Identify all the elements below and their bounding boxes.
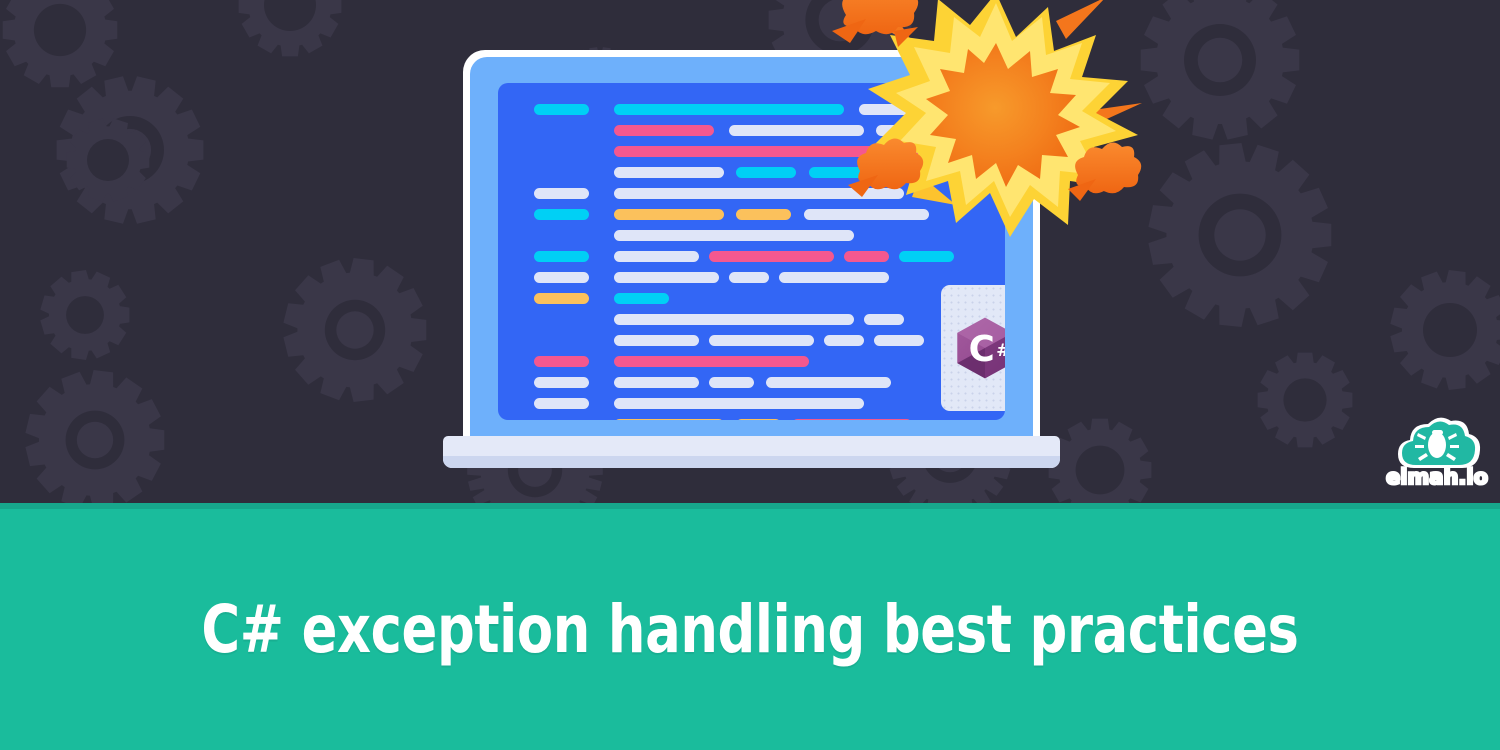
code-line-segment [534,272,589,283]
explosion-burst-icon [820,0,1160,245]
gear-icon [25,370,164,504]
csharp-logo-icon: C # [941,285,1005,411]
code-line-segment [534,398,589,409]
code-line-segment [709,335,814,346]
code-line-segment [534,209,589,220]
code-line-segment [824,335,864,346]
code-line-segment [614,398,864,409]
code-line-segment [614,167,724,178]
code-line-segment [614,125,714,136]
gear-icon [1258,353,1353,448]
code-line-segment [614,230,854,241]
laptop-base-edge [443,456,1060,468]
code-line-segment [614,209,724,220]
csharp-letter: C [969,329,995,370]
gear-icon [239,0,342,56]
code-line-segment [614,293,669,304]
code-line-segment [534,377,589,388]
page-title: C# exception handling best practices [150,509,1350,750]
elmahio-wordmark: elmah.io [1386,465,1488,489]
gear-icon [1148,143,1331,327]
code-line-segment [534,356,589,367]
code-line-segment [534,251,589,262]
code-line-segment [766,377,891,388]
code-line-segment [736,209,791,220]
elmahio-logo[interactable]: elmah.io [1378,412,1496,490]
code-line-segment [614,377,699,388]
gear-icon [283,258,426,402]
code-line-segment [844,251,889,262]
code-line-segment [864,314,904,325]
code-line-segment [614,272,719,283]
code-line-segment [534,293,589,304]
code-line-segment [709,251,834,262]
code-line-segment [614,335,699,346]
gear-icon [1141,0,1300,140]
code-line-segment [534,104,589,115]
code-line-segment [874,335,924,346]
code-line-segment [899,251,954,262]
csharp-hexagon-icon: C # [952,315,1005,381]
banner-canvas: C # [0,0,1500,750]
code-line-segment [614,251,699,262]
gear-icon [40,270,129,360]
code-line-segment [736,167,796,178]
code-line-segment [779,272,889,283]
code-line-segment [792,419,912,420]
code-line-segment [729,272,769,283]
code-line-segment [736,419,781,420]
gear-icon [1390,270,1500,390]
code-line-segment [614,104,844,115]
gear-icon [67,118,150,201]
code-line-segment [534,188,589,199]
code-line-segment [709,377,754,388]
csharp-sharp-symbol: # [996,341,1005,361]
gear-icon [1049,419,1152,504]
gear-icon [3,0,118,87]
code-line-segment [614,419,724,420]
code-line-segment [614,356,809,367]
code-line-segment [614,314,854,325]
